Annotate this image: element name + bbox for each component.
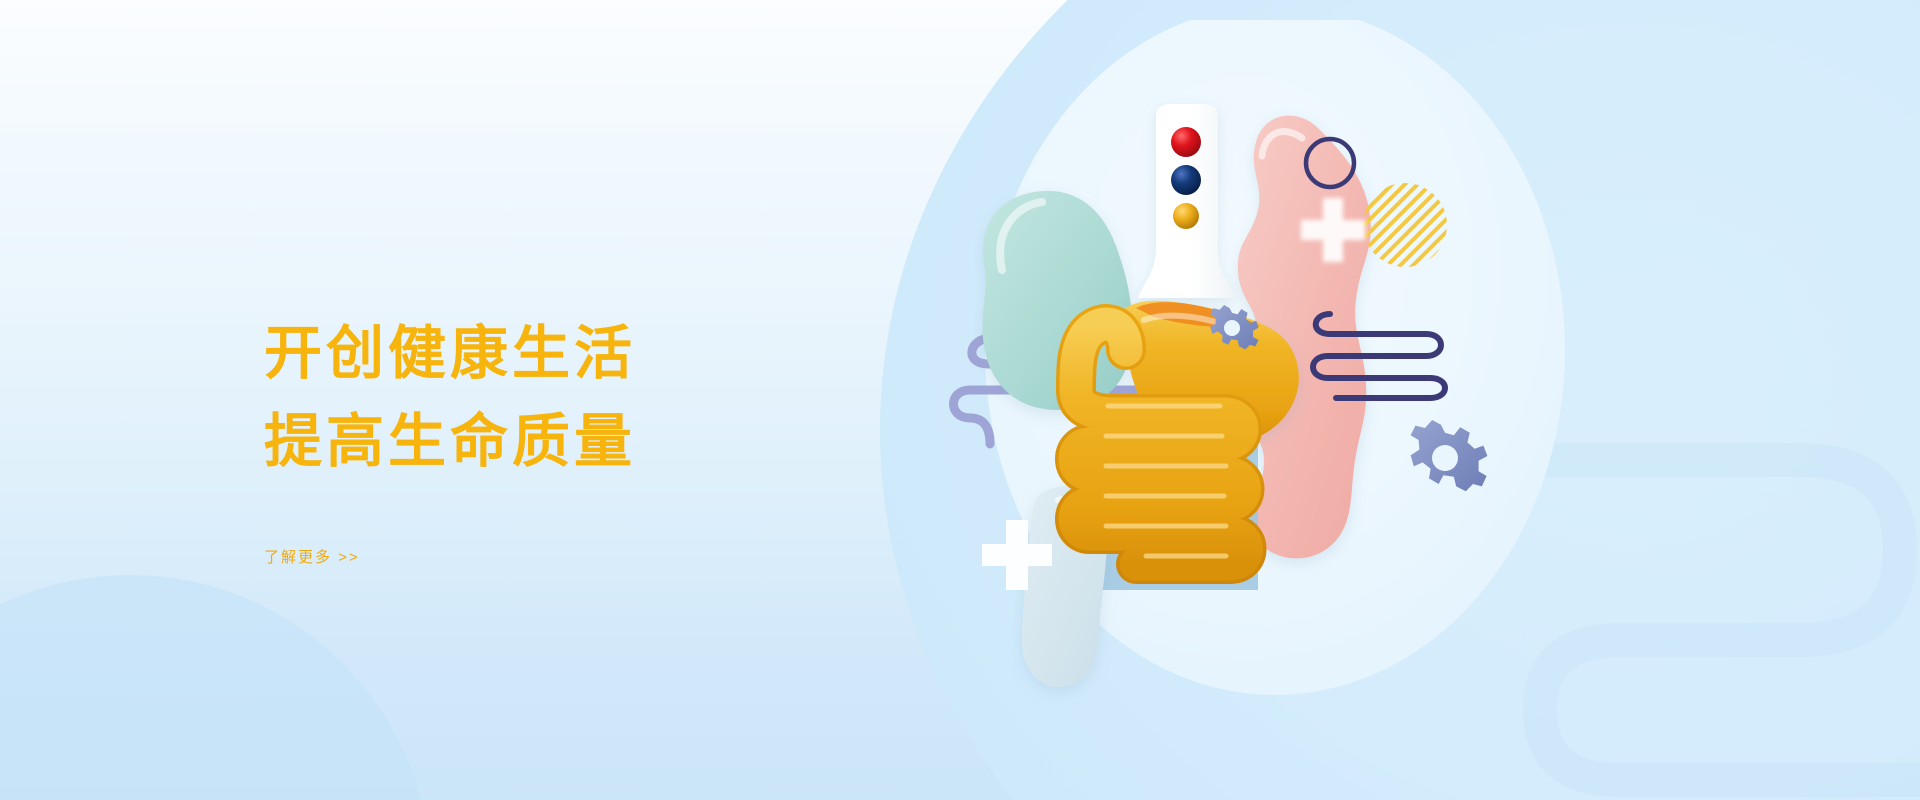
sample-dot-navy bbox=[1171, 165, 1201, 195]
background-circle-bottom-left bbox=[0, 575, 430, 800]
digestive-system-illustration bbox=[930, 20, 1630, 760]
headline-line-1: 开创健康生活 bbox=[264, 310, 904, 398]
hero-copy: 开创健康生活 提高生命质量 了解更多 >> bbox=[264, 310, 904, 567]
learn-more-link[interactable]: 了解更多 >> bbox=[264, 546, 360, 567]
sample-dot-yellow bbox=[1173, 203, 1199, 229]
headline-line-2: 提高生命质量 bbox=[264, 398, 904, 486]
sample-dot-red bbox=[1171, 127, 1201, 157]
striped-circle bbox=[1363, 183, 1447, 267]
hero-banner: 开创健康生活 提高生命质量 了解更多 >> bbox=[0, 0, 1920, 800]
